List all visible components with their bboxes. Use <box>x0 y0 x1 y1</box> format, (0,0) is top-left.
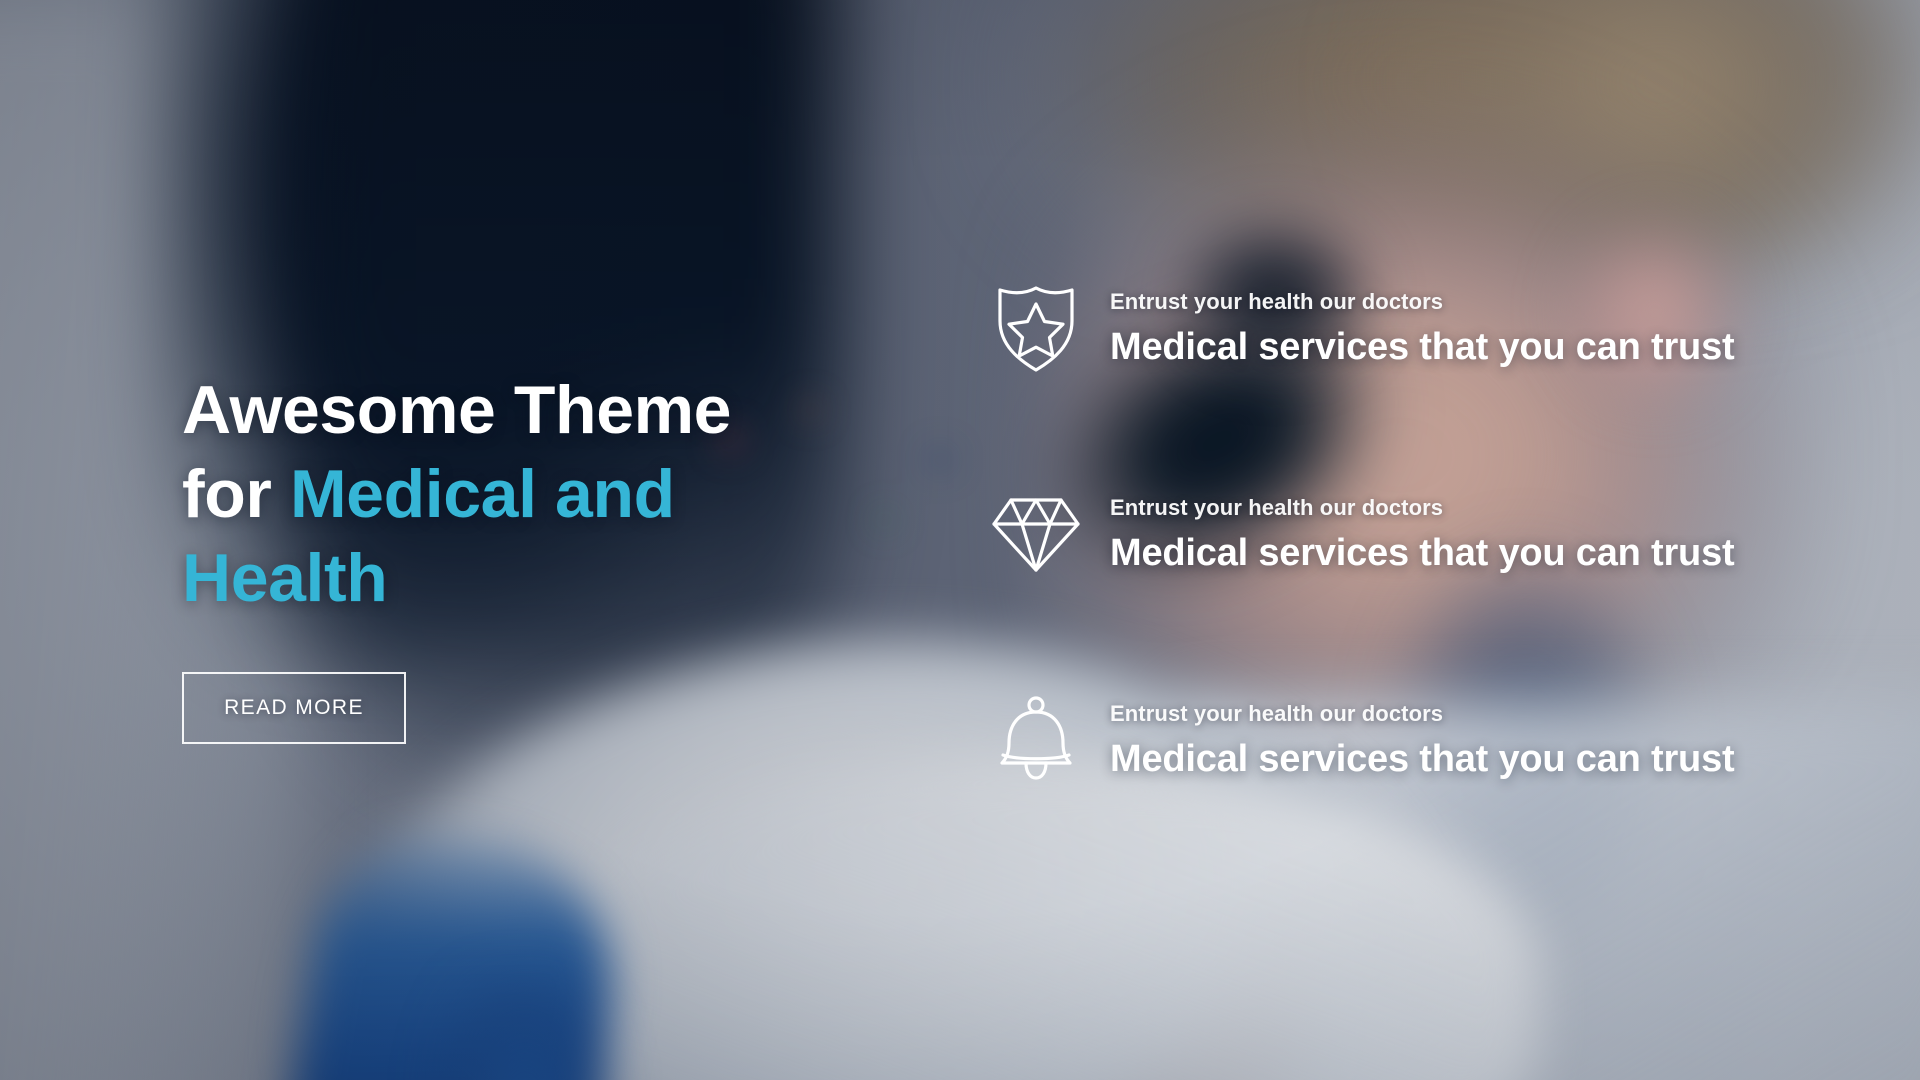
feature-text-block: Entrust your health our doctors Medical … <box>1110 698 1820 782</box>
feature-item[interactable]: Entrust your health our doctors Medical … <box>990 262 1820 394</box>
hero-left-column: Awesome Theme for Medical and Health REA… <box>182 368 822 744</box>
hero-content: Awesome Theme for Medical and Health REA… <box>0 0 1920 1080</box>
bell-icon <box>990 694 1082 786</box>
feature-title: Medical services that you can trust <box>1110 530 1820 576</box>
hero-features-list: Entrust your health our doctors Medical … <box>990 262 1820 806</box>
read-more-button[interactable]: READ MORE <box>182 672 406 744</box>
headline-line-2-accent: Medical and <box>290 456 675 532</box>
feature-label: Entrust your health our doctors <box>1110 494 1820 522</box>
headline-line-2-plain: for <box>182 456 290 532</box>
feature-label: Entrust your health our doctors <box>1110 288 1820 316</box>
feature-text-block: Entrust your health our doctors Medical … <box>1110 492 1820 576</box>
feature-text-block: Entrust your health our doctors Medical … <box>1110 286 1820 370</box>
hero-headline: Awesome Theme for Medical and Health <box>182 368 822 620</box>
feature-label: Entrust your health our doctors <box>1110 700 1820 728</box>
hero-banner: Awesome Theme for Medical and Health REA… <box>0 0 1920 1080</box>
headline-line-3-accent: Health <box>182 540 387 616</box>
diamond-icon <box>990 488 1082 580</box>
feature-title: Medical services that you can trust <box>1110 736 1820 782</box>
headline-line-1: Awesome Theme <box>182 372 731 448</box>
feature-title: Medical services that you can trust <box>1110 324 1820 370</box>
feature-item[interactable]: Entrust your health our doctors Medical … <box>990 674 1820 806</box>
shield-star-icon <box>990 282 1082 374</box>
feature-item[interactable]: Entrust your health our doctors Medical … <box>990 468 1820 600</box>
